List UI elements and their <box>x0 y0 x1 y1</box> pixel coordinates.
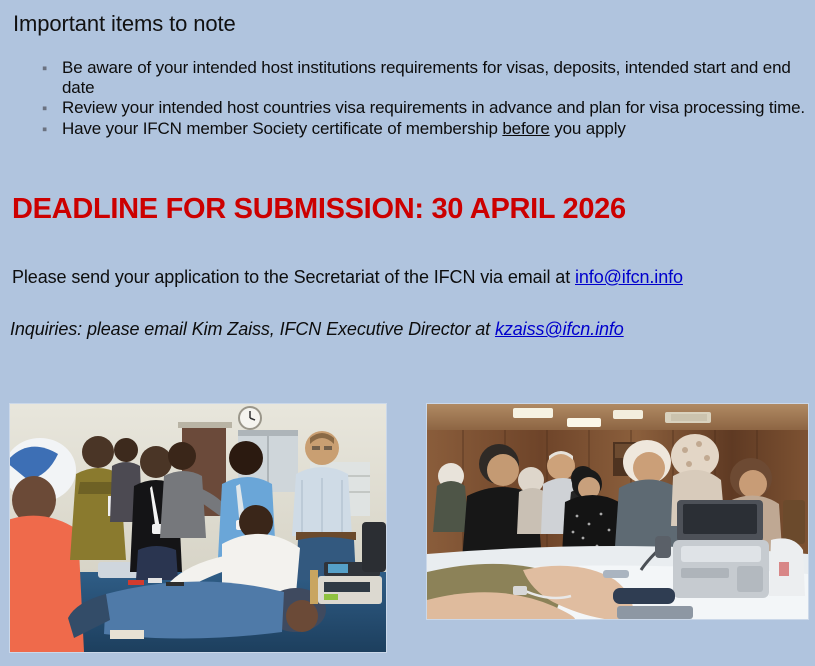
deadline-banner: DEADLINE FOR SUBMISSION: 30 APRIL 2026 <box>12 193 626 226</box>
submission-instructions: Please send your application to the Secr… <box>12 266 683 288</box>
slide-canvas: Important items to note ▪ Be aware of yo… <box>0 0 815 666</box>
bullet-square-icon: ▪ <box>36 58 62 79</box>
important-items-list: ▪ Be aware of your intended host institu… <box>36 58 806 140</box>
list-item-text-emphasis: before <box>502 119 549 138</box>
photo-right-illustration <box>427 404 808 619</box>
director-email-link[interactable]: kzaiss@ifcn.info <box>495 319 624 339</box>
photo-ultrasound-leg-demonstration <box>427 404 808 619</box>
submission-instructions-text: Please send your application to the Secr… <box>12 267 575 287</box>
bullet-square-icon: ▪ <box>36 98 62 119</box>
page-title: Important items to note <box>13 11 236 37</box>
list-item: ▪ Be aware of your intended host institu… <box>36 58 806 98</box>
list-item-text: Review your intended host countries visa… <box>62 98 806 118</box>
list-item-text-main: Review your intended host countries visa… <box>62 98 805 117</box>
list-item: ▪ Have your IFCN member Society certific… <box>36 119 806 140</box>
photo-left-illustration <box>10 404 386 652</box>
list-item-text-main: Be aware of your intended host instituti… <box>62 58 791 97</box>
list-item-text: Have your IFCN member Society certificat… <box>62 119 806 139</box>
inquiries-instructions: Inquiries: please email Kim Zaiss, IFCN … <box>10 318 624 340</box>
list-item: ▪ Review your intended host countries vi… <box>36 98 806 119</box>
photo-ultrasound-training-group <box>10 404 386 652</box>
bullet-square-icon: ▪ <box>36 119 62 140</box>
list-item-text-tail: you apply <box>550 119 626 138</box>
list-item-text-main: Have your IFCN member Society certificat… <box>62 119 502 138</box>
secretariat-email-link[interactable]: info@ifcn.info <box>575 267 683 287</box>
list-item-text: Be aware of your intended host instituti… <box>62 58 806 98</box>
inquiries-instructions-text: Inquiries: please email Kim Zaiss, IFCN … <box>10 319 495 339</box>
